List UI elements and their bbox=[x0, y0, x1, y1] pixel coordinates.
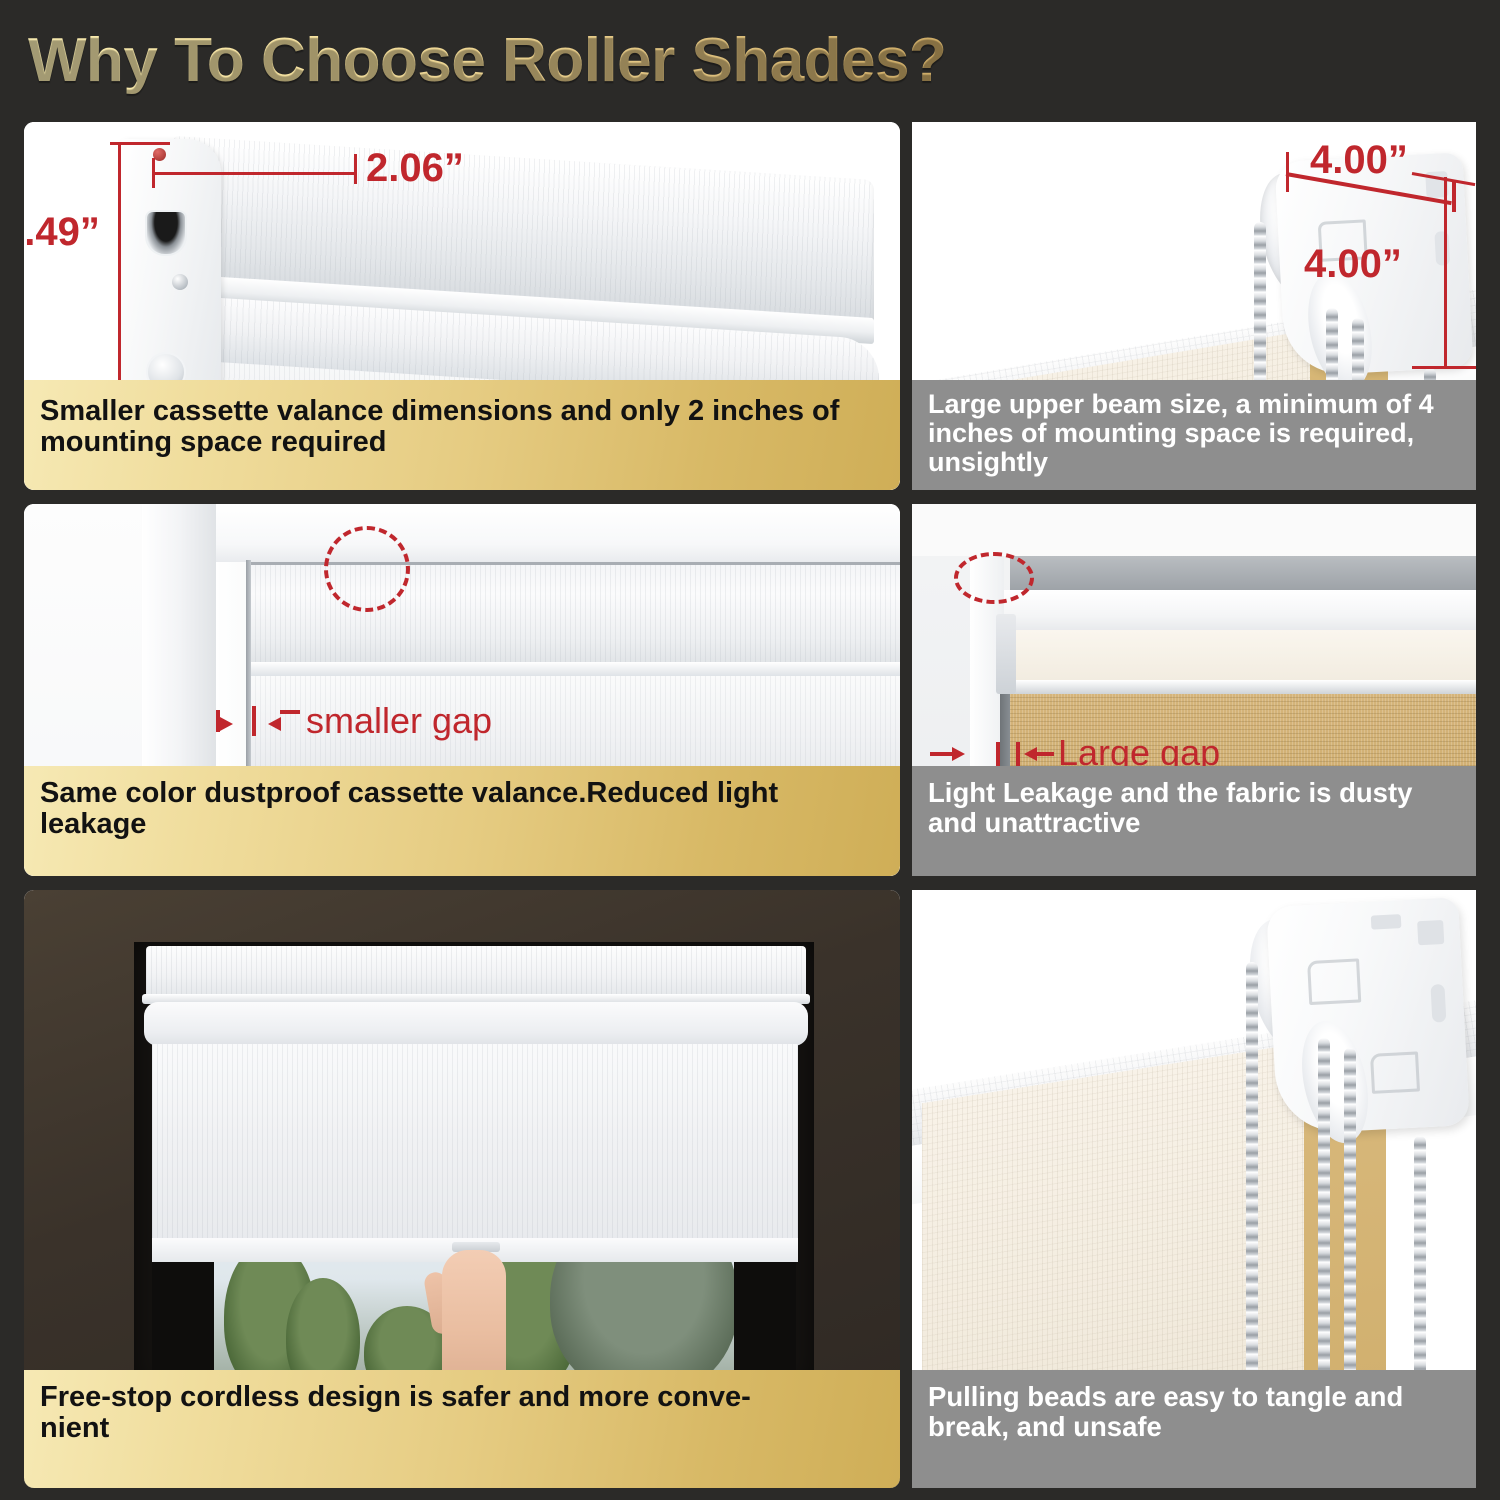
valance-roll bbox=[144, 1002, 808, 1046]
caption-pulling-beads-unsafe: Pulling beads are easy to tangle and bre… bbox=[912, 1370, 1476, 1488]
bracket-hole-3 bbox=[1371, 914, 1402, 930]
end-cap-screw-icon bbox=[172, 274, 188, 290]
beam-shadow bbox=[1010, 556, 1476, 590]
dimension-label-height: 5.49” bbox=[24, 210, 100, 255]
panel-pulling-beads-unsafe: Pulling beads are easy to tangle and bre… bbox=[912, 890, 1476, 1488]
dim-width-line bbox=[152, 172, 357, 175]
bracket-notch-2 bbox=[1434, 231, 1450, 266]
gap-tick-inner bbox=[252, 706, 256, 736]
panel-large-gap-light-leak: Large gap Light Leakage and the fabric i… bbox=[912, 504, 1476, 876]
gap-arrow-left-tail bbox=[1036, 752, 1054, 756]
caption-free-stop-cordless: Free-stop cordless design is safer and m… bbox=[24, 1370, 900, 1488]
infographic-page: Why To Choose Roller Shades? 2.06” 5.49” bbox=[0, 0, 1500, 1500]
highlight-circle-icon bbox=[954, 552, 1034, 604]
ceiling-area bbox=[912, 504, 1476, 556]
panel-cassette-valance-dimensions: 2.06” 5.49” Smaller cassette valance dim… bbox=[24, 122, 900, 490]
panel-smaller-gap-dustproof: smaller gap Same color dustproof cassett… bbox=[24, 504, 900, 876]
edge-gap bbox=[246, 560, 251, 774]
upper-beam bbox=[972, 590, 1476, 634]
panel-large-upper-beam-dimensions: 4.00” 4.00” Large upper beam size, a min… bbox=[912, 122, 1476, 490]
cassette-valance bbox=[146, 946, 806, 998]
bracket-hole-2 bbox=[1430, 984, 1446, 1023]
page-title: Why To Choose Roller Shades? bbox=[28, 22, 1128, 100]
dim-height-line bbox=[1444, 177, 1447, 367]
gap-arrow-right-icon bbox=[952, 747, 965, 761]
caption-large-upper-beam-dimensions: Large upper beam size, a minimum of 4 in… bbox=[912, 380, 1476, 490]
window-frame-header bbox=[216, 504, 900, 562]
window-frame-jamb bbox=[142, 504, 216, 774]
gap-arrow-right-tail bbox=[930, 752, 952, 756]
highlight-circle-icon bbox=[324, 526, 410, 612]
end-cap-slot bbox=[145, 210, 187, 256]
dimension-label-width: 4.00” bbox=[1310, 138, 1408, 183]
gap-callout-label: smaller gap bbox=[306, 700, 492, 742]
valance-bottom-bar bbox=[250, 662, 900, 676]
caption-cassette-valance-dimensions: Smaller cassette valance dimensions and … bbox=[24, 380, 900, 490]
dim-width-tick-right bbox=[1452, 180, 1456, 212]
gap-arrow-right-tail bbox=[216, 710, 220, 732]
caption-smaller-gap-dustproof: Same color dustproof cassette valance.Re… bbox=[24, 766, 900, 876]
beam-rail bbox=[972, 680, 1476, 694]
dimension-label-width: 2.06” bbox=[366, 146, 464, 191]
cream-fabric-band bbox=[972, 630, 1476, 682]
bracket-hole-1 bbox=[1417, 920, 1444, 945]
dim-height-tick-bottom bbox=[1412, 366, 1476, 369]
dim-width-tick-right bbox=[354, 154, 357, 184]
caption-large-gap-light-leak: Light Leakage and the fabric is dusty an… bbox=[912, 766, 1476, 876]
bracket-emboss-icon bbox=[1307, 958, 1361, 1005]
hand-icon bbox=[442, 1250, 506, 1390]
bracket-emboss-icon bbox=[1370, 1051, 1420, 1093]
bracket-fitting bbox=[996, 614, 1016, 694]
gap-arrow-left-tail bbox=[280, 710, 300, 714]
gap-arrow-right-icon bbox=[220, 717, 233, 731]
panel-free-stop-cordless: Free-stop cordless design is safer and m… bbox=[24, 890, 900, 1488]
dimension-label-height: 4.00” bbox=[1304, 242, 1402, 287]
shade-fabric bbox=[152, 1044, 798, 1244]
gap-arrow-left-icon bbox=[268, 717, 281, 731]
